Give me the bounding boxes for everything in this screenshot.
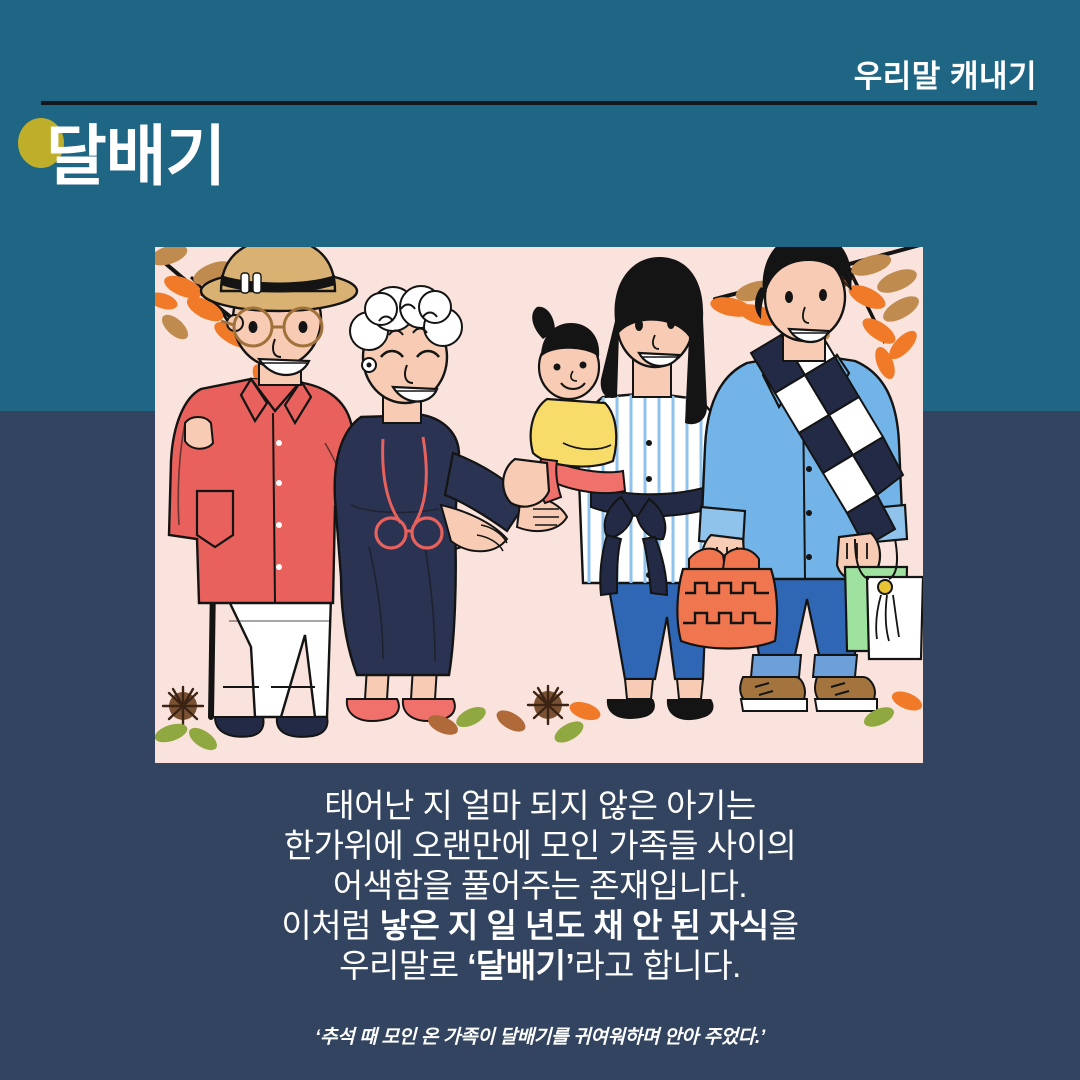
body-line-5-bold: ‘달배기’ bbox=[467, 947, 574, 984]
body-line-3: 어색함을 풀어주는 존재입니다. bbox=[0, 866, 1080, 906]
body-line-5-pre: 우리말로 bbox=[339, 947, 467, 984]
illustration-frame bbox=[155, 247, 923, 763]
body-line-5-post: 라고 합니다. bbox=[574, 947, 741, 984]
body-copy-block: 태어난 지 얼마 되지 않은 아기는 한가위에 오랜만에 모인 가족들 사이의 … bbox=[0, 786, 1080, 986]
body-line-2: 한가위에 오랜만에 모인 가족들 사이의 bbox=[0, 826, 1080, 866]
example-sentence: ‘추석 때 모인 온 가족이 달배기를 귀여워하며 안아 주었다.’ bbox=[0, 1022, 1080, 1049]
body-line-1: 태어난 지 얼마 되지 않은 아기는 bbox=[0, 786, 1080, 826]
page-title: 달배기 bbox=[46, 122, 225, 191]
body-line-4-post: 을 bbox=[769, 907, 799, 944]
body-line-4: 이처럼 낳은 지 일 년도 채 안 된 자식을 bbox=[0, 906, 1080, 946]
title-block: 달배기 bbox=[18, 116, 438, 222]
body-line-5: 우리말로 ‘달배기’라고 합니다. bbox=[0, 946, 1080, 986]
series-kicker: 우리말 캐내기 bbox=[854, 51, 1037, 96]
header-divider-rule bbox=[41, 101, 1037, 105]
uriml-card: 우리말 캐내기 달배기 bbox=[0, 0, 1080, 1080]
body-line-4-bold: 낳은 지 일 년도 채 안 된 자식 bbox=[380, 907, 769, 944]
body-line-4-pre: 이처럼 bbox=[281, 907, 379, 944]
